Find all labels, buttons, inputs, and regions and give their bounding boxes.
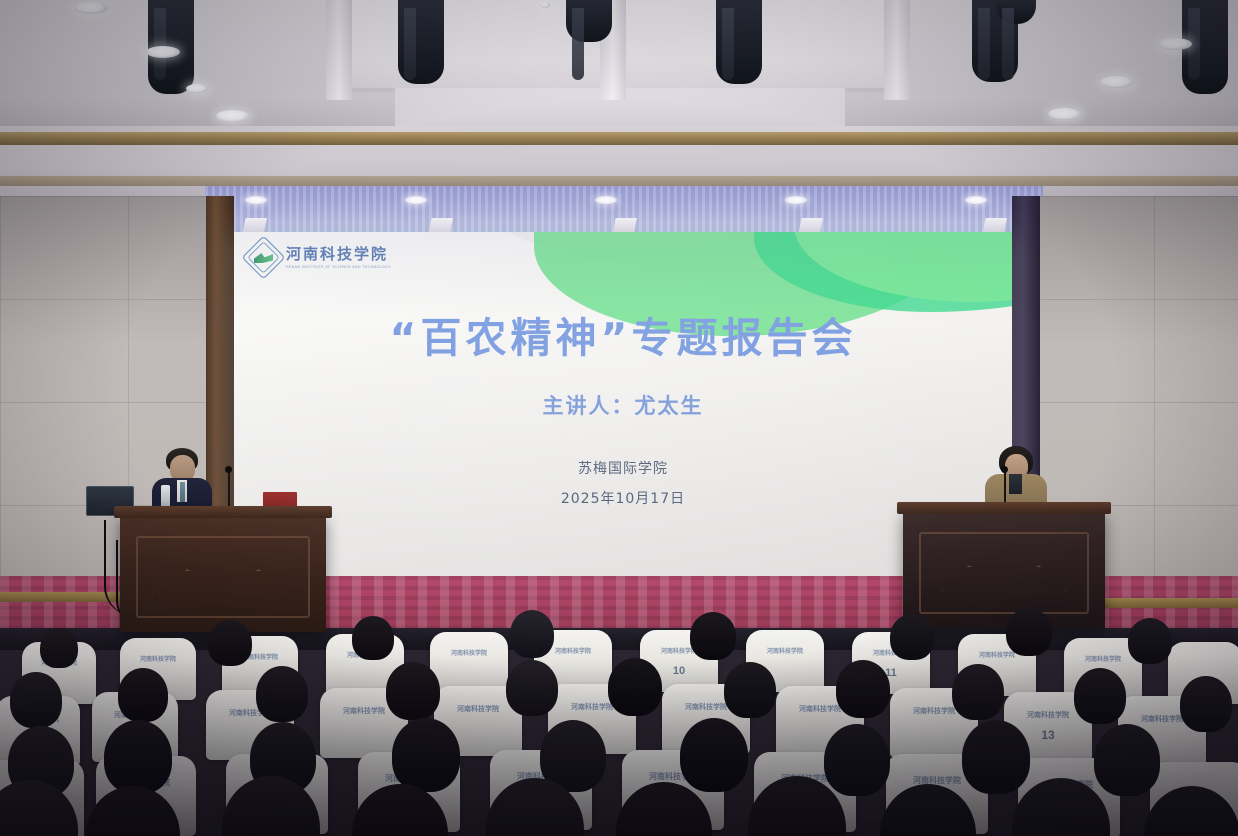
audience-head	[352, 616, 394, 660]
audience-head	[1094, 724, 1160, 796]
podium-chevron-inlay	[941, 565, 1067, 591]
seat-cover-logo: 河南科技学院	[430, 648, 508, 657]
audience-head	[1074, 668, 1126, 724]
audience-head	[510, 610, 554, 658]
projection-screen[interactable]: 河南科技学院 HENAN INSTITUTE OF SCIENCE AND TE…	[234, 232, 1012, 577]
wood-trim-upper	[0, 132, 1238, 145]
audience-seating: 河南科技学院 河南科技学院 河南科技学院 河南科技学院 河南科技学院 河南科技学…	[0, 600, 1238, 836]
audience-head	[1128, 618, 1172, 664]
logo-text-block: 河南科技学院 HENAN INSTITUTE OF SCIENCE AND TE…	[286, 247, 391, 269]
audience-head	[836, 660, 890, 718]
audience-head	[962, 720, 1030, 794]
podium-top-surface	[114, 506, 332, 518]
ceiling-speaker-icon	[716, 0, 762, 84]
audience-head	[392, 718, 460, 792]
presenter-tie	[180, 482, 185, 502]
ceiling-speaker-icon	[996, 0, 1036, 24]
audience-head	[952, 664, 1004, 720]
ceiling-speaker-icon	[398, 0, 444, 84]
audience-head	[256, 666, 308, 722]
soffit-downlight-icon	[785, 196, 807, 204]
podium-top-surface	[897, 502, 1111, 514]
ceiling	[0, 0, 1238, 132]
host-inner-top	[1009, 474, 1022, 494]
soffit-downlight-icon	[245, 196, 267, 204]
wood-trim-lower	[0, 176, 1238, 186]
audience-head	[506, 660, 558, 716]
ceiling-downlight-icon	[1158, 38, 1192, 50]
slide-title: “百农精神”专题报告会	[234, 304, 1012, 364]
ceiling-rib	[884, 0, 910, 100]
microphone-head-icon	[225, 466, 232, 473]
audience-head	[40, 628, 78, 668]
audience-head	[104, 720, 172, 794]
audience-head	[890, 614, 934, 660]
audience-head	[680, 718, 748, 792]
audience-head	[690, 612, 736, 660]
slide-organization: 苏梅国际学院	[234, 458, 1012, 478]
soffit-downlight-icon	[965, 196, 987, 204]
seat[interactable]: 河南科技学院	[430, 632, 508, 694]
audience-head	[608, 658, 662, 716]
screen-soffit-lightbar	[205, 186, 1043, 238]
audience-head	[10, 672, 62, 728]
ceiling-downlight-icon	[146, 46, 180, 58]
soffit-downlight-icon	[405, 196, 427, 204]
logo-english-name: HENAN INSTITUTE OF SCIENCE AND TECHNOLOG…	[286, 265, 391, 269]
audience-head	[724, 662, 776, 718]
audience-head	[118, 668, 168, 722]
ceiling-downlight-icon	[186, 84, 208, 93]
ceiling-downlight-icon	[1100, 76, 1134, 88]
seat-cover-logo: 河南科技学院	[746, 646, 824, 655]
audience-head	[1006, 608, 1052, 656]
microphone-head-icon	[1001, 466, 1008, 473]
logo-chinese-name: 河南科技学院	[286, 247, 391, 262]
university-emblem-icon	[248, 242, 279, 273]
audience-head	[386, 662, 440, 720]
slide-institution-logo: 河南科技学院 HENAN INSTITUTE OF SCIENCE AND TE…	[248, 242, 391, 273]
audience-head	[824, 724, 890, 796]
ceiling-downlight-icon	[216, 110, 250, 122]
ceiling-speaker-icon	[566, 0, 612, 42]
ceiling-downlight-icon	[540, 2, 550, 8]
podium-chevron-inlay	[158, 569, 287, 595]
slide-speaker-line: 主讲人：尤太生	[234, 390, 1012, 420]
ceiling-downlight-icon	[74, 2, 108, 14]
audience-head	[208, 620, 252, 666]
audience-head	[1180, 676, 1232, 732]
slide-date: 2025年10月17日	[234, 488, 1012, 508]
seat-cover-logo: 河南科技学院	[120, 654, 196, 663]
ceiling-rib	[326, 0, 352, 100]
ceiling-downlight-icon	[1048, 108, 1082, 120]
auditorium-scene: 河南科技学院 HENAN INSTITUTE OF SCIENCE AND TE…	[0, 0, 1238, 836]
soffit-downlight-icon	[595, 196, 617, 204]
